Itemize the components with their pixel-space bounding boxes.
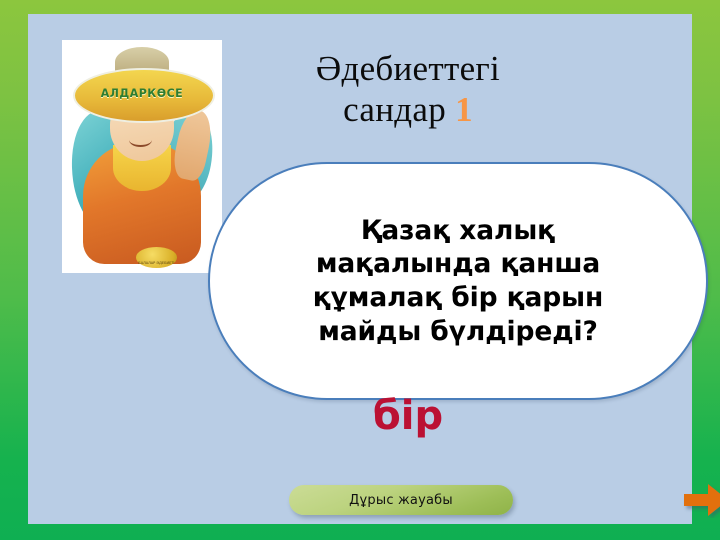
question-bubble: Қазақ халық мақалында қанша құмалақ бір … — [208, 162, 708, 400]
slide-inner-panel: АЛДАРКӨСЕ БАЛАЛАР ӘДЕБИЕТІ Әдебиеттегі с… — [28, 14, 692, 524]
page-title: Әдебиеттегі сандар 1 — [238, 48, 578, 131]
arrow-right-icon — [683, 482, 720, 518]
cover-smile — [129, 133, 151, 147]
question-line-2: мақалында қанша — [316, 248, 600, 279]
book-cover-artwork: АЛДАРКӨСЕ БАЛАЛАР ӘДЕБИЕТІ — [62, 40, 222, 273]
question-text: Қазақ халық мақалында қанша құмалақ бір … — [282, 214, 634, 349]
book-cover-image: АЛДАРКӨСЕ БАЛАЛАР ӘДЕБИЕТІ — [62, 40, 222, 273]
slide-canvas: АЛДАРКӨСЕ БАЛАЛАР ӘДЕБИЕТІ Әдебиеттегі с… — [0, 0, 720, 540]
title-line-1: Әдебиеттегі — [316, 49, 500, 88]
cover-publisher-label: БАЛАЛАР ӘДЕБИЕТІ — [136, 261, 178, 265]
question-line-3: құмалақ бір қарын — [313, 282, 604, 313]
cover-publisher-badge — [136, 247, 178, 268]
question-line-1: Қазақ халық — [361, 215, 555, 246]
next-slide-button[interactable] — [683, 482, 720, 518]
question-line-4: майды бүлдіреді? — [318, 316, 598, 347]
correct-answer-button-label: Дұрыс жауабы — [349, 493, 453, 508]
title-number: 1 — [455, 90, 473, 129]
title-line-2: сандар — [343, 90, 446, 129]
cover-hat-title: АЛДАРКӨСЕ — [73, 72, 211, 116]
correct-answer-button[interactable]: Дұрыс жауабы — [289, 485, 513, 515]
answer-text: бір — [238, 396, 578, 436]
